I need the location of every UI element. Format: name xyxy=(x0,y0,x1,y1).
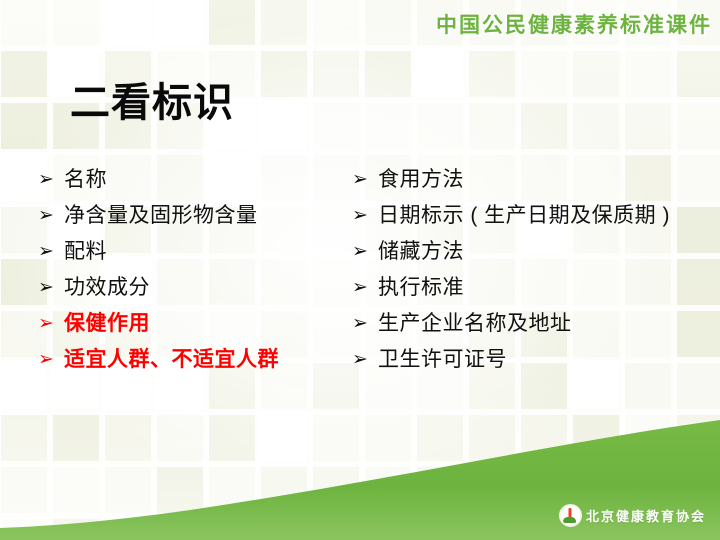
bullet-arrow-icon: ➢ xyxy=(38,166,64,193)
page-title: 二看标识 xyxy=(70,80,234,126)
list-item-label: 执行标准 xyxy=(378,274,682,301)
list-item-label: 卫生许可证号 xyxy=(378,346,682,373)
association-emblem-icon xyxy=(559,504,582,527)
bullet-list-right: ➢食用方法➢日期标示 ( 生产日期及保质期 )➢储藏方法➢执行标准➢生产企业名称… xyxy=(352,166,682,382)
bullet-arrow-icon: ➢ xyxy=(352,274,378,301)
bullet-arrow-icon: ➢ xyxy=(352,310,378,337)
list-item: ➢名称 xyxy=(38,166,348,193)
list-item-label: 食用方法 xyxy=(378,166,682,193)
list-item-label: 净含量及固形物含量 xyxy=(64,202,348,229)
list-item: ➢净含量及固形物含量 xyxy=(38,202,348,229)
list-item-label: 储藏方法 xyxy=(378,238,682,265)
list-item: ➢储藏方法 xyxy=(352,238,682,265)
list-item: ➢卫生许可证号 xyxy=(352,346,682,373)
bullet-arrow-icon: ➢ xyxy=(38,202,64,229)
list-item-label: 名称 xyxy=(64,166,348,193)
bullet-arrow-icon: ➢ xyxy=(352,238,378,265)
bullet-arrow-icon: ➢ xyxy=(352,202,378,229)
list-item-label: 配料 xyxy=(64,238,348,265)
list-item: ➢日期标示 ( 生产日期及保质期 ) xyxy=(352,202,682,229)
slide-canvas: 中国公民健康素养标准课件 二看标识 ➢名称➢净含量及固形物含量➢配料➢功效成分➢… xyxy=(0,0,720,540)
list-item-label: 生产企业名称及地址 xyxy=(378,310,682,337)
bullet-arrow-icon: ➢ xyxy=(38,310,64,337)
list-item: ➢适宜人群、不适宜人群 xyxy=(38,346,348,373)
bullet-list-left: ➢名称➢净含量及固形物含量➢配料➢功效成分➢保健作用➢适宜人群、不适宜人群 xyxy=(38,166,348,382)
list-item: ➢生产企业名称及地址 xyxy=(352,310,682,337)
bullet-arrow-icon: ➢ xyxy=(352,346,378,373)
list-item-label: 保健作用 xyxy=(64,310,348,337)
bullet-arrow-icon: ➢ xyxy=(38,346,64,373)
header-band: 中国公民健康素养标准课件 xyxy=(0,0,720,44)
bullet-arrow-icon: ➢ xyxy=(38,274,64,301)
list-item: ➢食用方法 xyxy=(352,166,682,193)
footer-branding: 北京健康教育协会 xyxy=(559,504,706,527)
bullet-arrow-icon: ➢ xyxy=(38,238,64,265)
course-title-header: 中国公民健康素养标准课件 xyxy=(436,9,712,39)
footer-organization-label: 北京健康教育协会 xyxy=(586,506,706,525)
list-item: ➢保健作用 xyxy=(38,310,348,337)
list-item: ➢配料 xyxy=(38,238,348,265)
list-item: ➢执行标准 xyxy=(352,274,682,301)
list-item-label: 功效成分 xyxy=(64,274,348,301)
list-item: ➢功效成分 xyxy=(38,274,348,301)
bullet-arrow-icon: ➢ xyxy=(352,166,378,193)
list-item-label: 日期标示 ( 生产日期及保质期 ) xyxy=(378,202,682,229)
list-item-label: 适宜人群、不适宜人群 xyxy=(64,346,348,373)
